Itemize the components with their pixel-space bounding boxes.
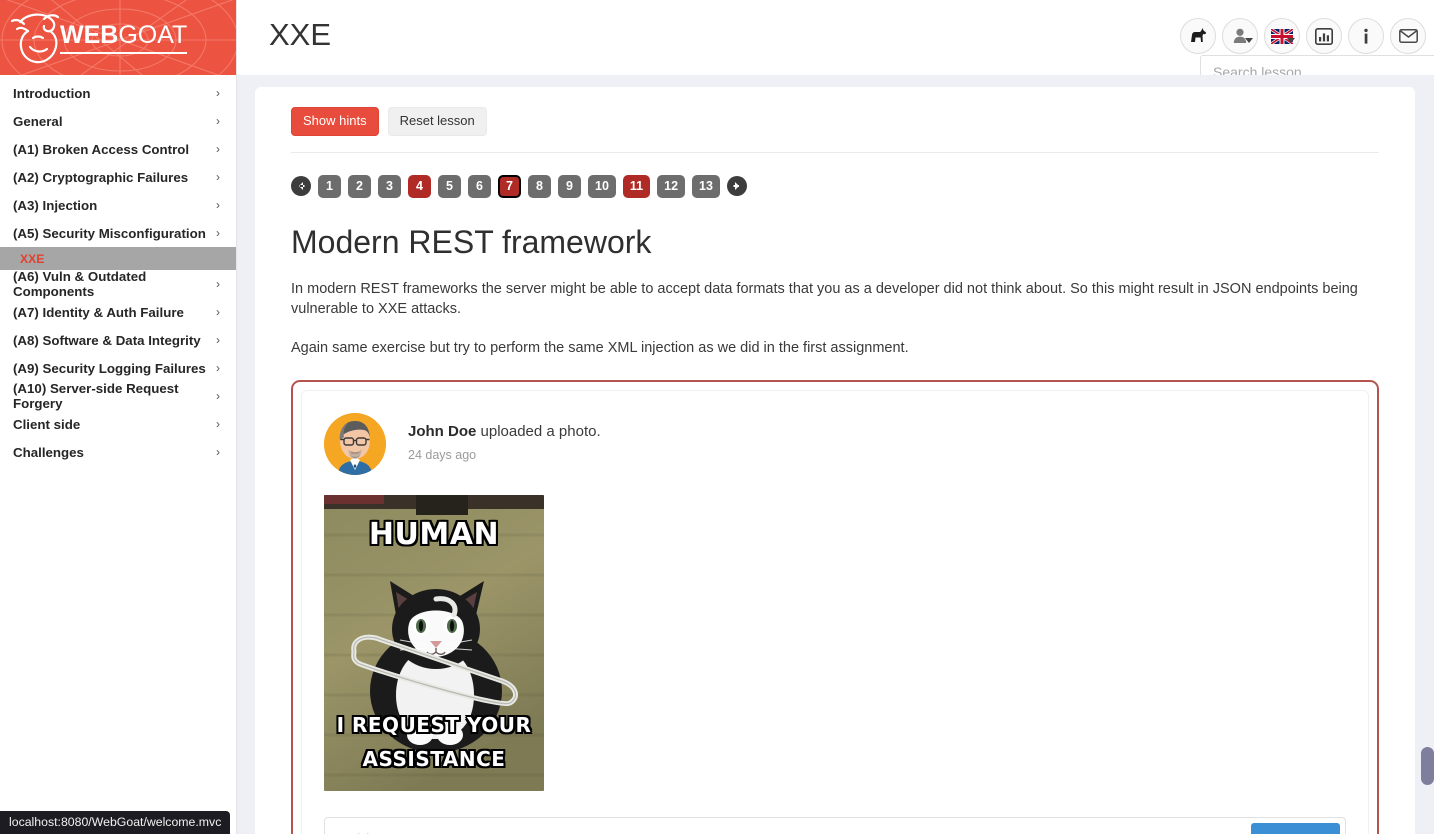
submit-button[interactable]: Submit bbox=[1251, 823, 1340, 834]
assignment-panel: John Doe uploaded a photo. 24 days ago bbox=[291, 380, 1379, 834]
sidebar-item-vuln-outdated-components[interactable]: (A6) Vuln & Outdated Components › bbox=[0, 270, 236, 298]
chart-icon-button[interactable] bbox=[1306, 18, 1342, 54]
language-flag-button[interactable] bbox=[1264, 18, 1300, 54]
sidebar-item-label: (A10) Server-side Request Forgery bbox=[13, 381, 223, 411]
sidebar-item-server-side-request-forgery[interactable]: (A10) Server-side Request Forgery › bbox=[0, 382, 236, 410]
meme-top-text: HUMAN bbox=[324, 517, 544, 552]
user-avatar-icon bbox=[324, 413, 386, 475]
sidebar: WEBGOAT Introduction › General › (A1) Br… bbox=[0, 0, 237, 834]
sidebar-item-broken-access-control[interactable]: (A1) Broken Access Control › bbox=[0, 135, 236, 163]
chart-icon bbox=[1315, 28, 1333, 45]
sidebar-item-label: (A8) Software & Data Integrity bbox=[13, 333, 201, 348]
sidebar-item-security-misconfiguration[interactable]: (A5) Security Misconfiguration › bbox=[0, 219, 236, 247]
chevron-right-icon: › bbox=[216, 142, 220, 156]
brand-goat: GOAT bbox=[118, 21, 187, 49]
post-action: uploaded a photo. bbox=[476, 423, 600, 440]
chevron-right-icon: › bbox=[216, 226, 220, 240]
sidebar-item-label: Introduction bbox=[13, 86, 91, 101]
pagination-page-11[interactable]: 11 bbox=[623, 175, 650, 198]
post-header: John Doe uploaded a photo. 24 days ago bbox=[324, 413, 1346, 475]
envelope-icon bbox=[1399, 29, 1418, 43]
sidebar-item-injection[interactable]: (A3) Injection › bbox=[0, 191, 236, 219]
user-icon-button[interactable] bbox=[1222, 18, 1258, 54]
sidebar-item-identity-auth-failure[interactable]: (A7) Identity & Auth Failure › bbox=[0, 298, 236, 326]
lesson-title: Modern REST framework bbox=[291, 224, 1415, 261]
meme-bottom-text-2: ASSISTANCE bbox=[324, 747, 544, 771]
lesson-pagination: 1 2 3 4 5 6 7 8 9 10 11 12 13 bbox=[255, 153, 1415, 198]
sidebar-item-cryptographic-failures[interactable]: (A2) Cryptographic Failures › bbox=[0, 163, 236, 191]
chevron-right-icon: › bbox=[216, 417, 220, 431]
lesson-toolbar: Show hints Reset lesson bbox=[255, 87, 1415, 136]
chevron-right-icon: › bbox=[216, 445, 220, 459]
info-icon-button[interactable] bbox=[1348, 18, 1384, 54]
assignment-inner-card: John Doe uploaded a photo. 24 days ago bbox=[301, 390, 1369, 834]
sidebar-item-xxe[interactable]: XXE bbox=[0, 247, 236, 270]
post-timestamp: 24 days ago bbox=[408, 448, 601, 462]
reset-lesson-button[interactable]: Reset lesson bbox=[388, 107, 487, 136]
info-icon bbox=[1362, 28, 1370, 45]
pagination-page-7[interactable]: 7 bbox=[498, 175, 521, 198]
post-image: HUMAN I REQUEST YOUR ASSISTANCE bbox=[324, 495, 544, 791]
sidebar-item-label: (A1) Broken Access Control bbox=[13, 142, 189, 157]
sidebar-item-software-data-integrity[interactable]: (A8) Software & Data Integrity › bbox=[0, 326, 236, 354]
meme-bottom-text-1: I REQUEST YOUR bbox=[324, 713, 544, 737]
arrow-left-icon bbox=[296, 181, 306, 191]
sidebar-item-label: (A5) Security Misconfiguration bbox=[13, 226, 206, 241]
sidebar-item-general[interactable]: General › bbox=[0, 107, 236, 135]
sidebar-item-label: General bbox=[13, 114, 63, 129]
main-content-area: Show hints Reset lesson 1 2 3 4 5 6 7 8 … bbox=[237, 75, 1434, 834]
sidebar-item-label: (A9) Security Logging Failures bbox=[13, 361, 206, 376]
sidebar-item-label: (A6) Vuln & Outdated Components bbox=[13, 269, 223, 299]
sidebar-item-label: Client side bbox=[13, 417, 80, 432]
brand-header[interactable]: WEBGOAT bbox=[0, 0, 236, 75]
comment-input[interactable] bbox=[325, 818, 1251, 834]
chevron-down-icon bbox=[1287, 38, 1295, 43]
pagination-page-9[interactable]: 9 bbox=[558, 175, 581, 198]
pagination-page-3[interactable]: 3 bbox=[378, 175, 401, 198]
pagination-prev-button[interactable] bbox=[291, 176, 311, 196]
sidebar-item-label: Challenges bbox=[13, 445, 84, 460]
pagination-page-6[interactable]: 6 bbox=[468, 175, 491, 198]
arrow-right-icon bbox=[732, 181, 742, 191]
sidebar-item-label: (A7) Identity & Auth Failure bbox=[13, 305, 184, 320]
sidebar-item-label: (A2) Cryptographic Failures bbox=[13, 170, 188, 185]
pagination-page-2[interactable]: 2 bbox=[348, 175, 371, 198]
envelope-icon-button[interactable] bbox=[1390, 18, 1426, 54]
pagination-page-8[interactable]: 8 bbox=[528, 175, 551, 198]
pagination-page-5[interactable]: 5 bbox=[438, 175, 461, 198]
chevron-down-icon bbox=[1245, 38, 1253, 43]
post-meta: John Doe uploaded a photo. 24 days ago bbox=[408, 413, 601, 462]
sidebar-item-security-logging-failures[interactable]: (A9) Security Logging Failures › bbox=[0, 354, 236, 382]
chevron-right-icon: › bbox=[216, 333, 220, 347]
show-hints-button[interactable]: Show hints bbox=[291, 107, 379, 136]
chevron-right-icon: › bbox=[216, 170, 220, 184]
post-title: John Doe uploaded a photo. bbox=[408, 423, 601, 440]
pagination-page-1[interactable]: 1 bbox=[318, 175, 341, 198]
sidebar-item-label: (A3) Injection bbox=[13, 198, 97, 213]
chevron-right-icon: › bbox=[216, 361, 220, 375]
chevron-right-icon: › bbox=[216, 198, 220, 212]
sidebar-item-challenges[interactable]: Challenges › bbox=[0, 438, 236, 466]
pagination-next-button[interactable] bbox=[727, 176, 747, 196]
lesson-card: Show hints Reset lesson 1 2 3 4 5 6 7 8 … bbox=[255, 87, 1415, 834]
sidebar-subitem-label: XXE bbox=[20, 252, 44, 266]
lesson-paragraph-1: In modern REST frameworks the server mig… bbox=[291, 279, 1379, 320]
chevron-right-icon: › bbox=[216, 114, 220, 128]
sidebar-item-client-side[interactable]: Client side › bbox=[0, 410, 236, 438]
chevron-right-icon: › bbox=[216, 277, 220, 291]
pagination-page-10[interactable]: 10 bbox=[588, 175, 616, 198]
vertical-scrollbar-thumb[interactable] bbox=[1421, 747, 1434, 785]
pagination-page-12[interactable]: 12 bbox=[657, 175, 685, 198]
goat-icon-button[interactable] bbox=[1180, 18, 1216, 54]
sidebar-item-introduction[interactable]: Introduction › bbox=[0, 79, 236, 107]
chevron-right-icon: › bbox=[216, 305, 220, 319]
sidebar-nav: Introduction › General › (A1) Broken Acc… bbox=[0, 75, 236, 466]
header-icon-bar bbox=[1180, 18, 1426, 54]
goat-icon bbox=[1188, 27, 1208, 45]
avatar bbox=[324, 413, 386, 475]
lesson-paragraph-2: Again same exercise but try to perform t… bbox=[291, 338, 1379, 359]
page-title: XXE bbox=[269, 17, 331, 53]
top-header: XXE bbox=[237, 0, 1434, 75]
pagination-page-13[interactable]: 13 bbox=[692, 175, 720, 198]
chevron-right-icon: › bbox=[216, 389, 220, 403]
chevron-right-icon: › bbox=[216, 86, 220, 100]
status-bar-url: localhost:8080/WebGoat/welcome.mvc bbox=[0, 811, 230, 834]
comment-form: Submit bbox=[324, 817, 1346, 834]
brand-web: WEB bbox=[60, 21, 118, 49]
brand-title: WEBGOAT bbox=[60, 21, 187, 54]
pagination-page-4[interactable]: 4 bbox=[408, 175, 431, 198]
post-author: John Doe bbox=[408, 423, 476, 440]
